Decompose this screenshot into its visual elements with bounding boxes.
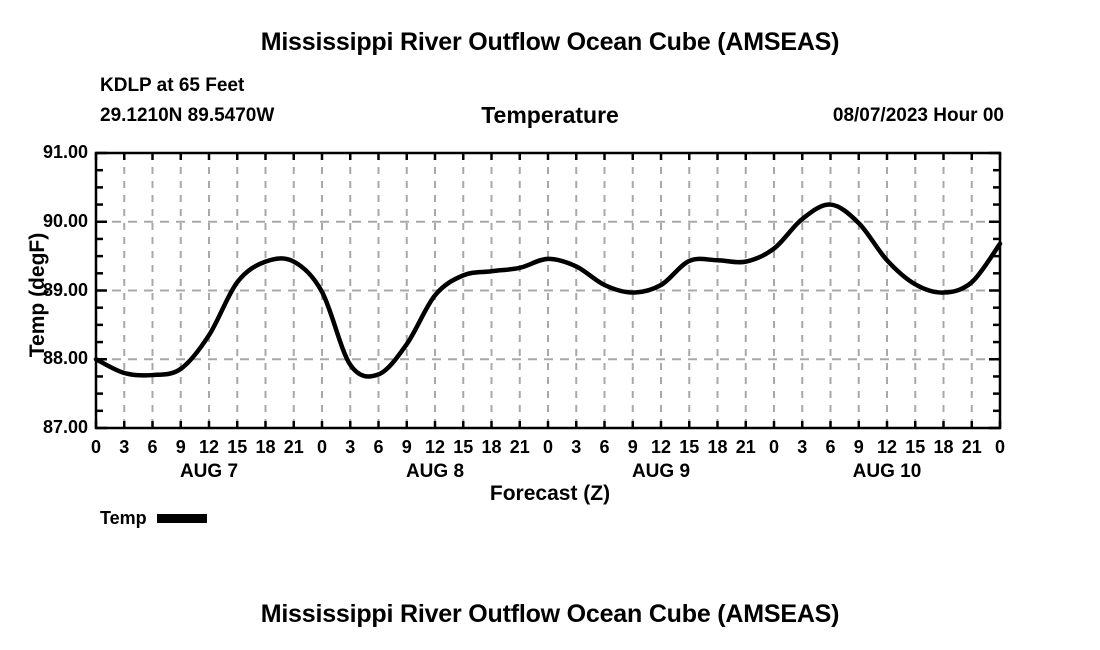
legend-label-temp: Temp <box>100 508 147 529</box>
x-tick-label: 21 <box>279 437 309 458</box>
x-tick-label: 0 <box>533 437 563 458</box>
x-tick-label: 9 <box>392 437 422 458</box>
x-tick-label: 15 <box>900 437 930 458</box>
x-tick-label: 18 <box>703 437 733 458</box>
x-tick-label: 12 <box>420 437 450 458</box>
x-tick-label: 3 <box>787 437 817 458</box>
page-title-bottom: Mississippi River Outflow Ocean Cube (AM… <box>0 600 1100 629</box>
x-tick-label: 18 <box>477 437 507 458</box>
x-tick-label: 15 <box>674 437 704 458</box>
y-tick-label: 91.00 <box>2 142 88 163</box>
x-tick-label: 6 <box>590 437 620 458</box>
chart-plot-area <box>0 0 1100 650</box>
x-tick-label: 21 <box>731 437 761 458</box>
legend-swatch-temp <box>157 514 207 523</box>
x-axis-day-label: AUG 9 <box>591 461 731 483</box>
x-tick-label: 9 <box>618 437 648 458</box>
x-tick-label: 0 <box>759 437 789 458</box>
y-tick-label: 90.00 <box>2 211 88 232</box>
y-tick-label: 87.00 <box>2 417 88 438</box>
chart-legend: Temp <box>100 508 207 529</box>
x-tick-label: 0 <box>307 437 337 458</box>
x-tick-label: 21 <box>957 437 987 458</box>
x-tick-label: 0 <box>81 437 111 458</box>
x-tick-label: 3 <box>335 437 365 458</box>
x-tick-label: 12 <box>872 437 902 458</box>
x-tick-label: 15 <box>448 437 478 458</box>
x-tick-label: 18 <box>929 437 959 458</box>
y-tick-label: 88.00 <box>2 348 88 369</box>
x-tick-label: 6 <box>816 437 846 458</box>
x-tick-label: 6 <box>364 437 394 458</box>
x-tick-label: 12 <box>646 437 676 458</box>
x-tick-label: 15 <box>222 437 252 458</box>
x-axis-day-label: AUG 8 <box>365 461 505 483</box>
x-axis-day-label: AUG 10 <box>817 461 957 483</box>
chart-page: Mississippi River Outflow Ocean Cube (AM… <box>0 0 1100 650</box>
x-tick-label: 6 <box>138 437 168 458</box>
x-tick-label: 3 <box>561 437 591 458</box>
x-tick-label: 12 <box>194 437 224 458</box>
x-tick-label: 3 <box>109 437 139 458</box>
y-tick-label: 89.00 <box>2 280 88 301</box>
x-tick-label: 18 <box>251 437 281 458</box>
x-tick-label: 9 <box>166 437 196 458</box>
x-tick-label: 0 <box>985 437 1015 458</box>
x-axis-day-label: AUG 7 <box>139 461 279 483</box>
x-tick-label: 21 <box>505 437 535 458</box>
x-tick-label: 9 <box>844 437 874 458</box>
